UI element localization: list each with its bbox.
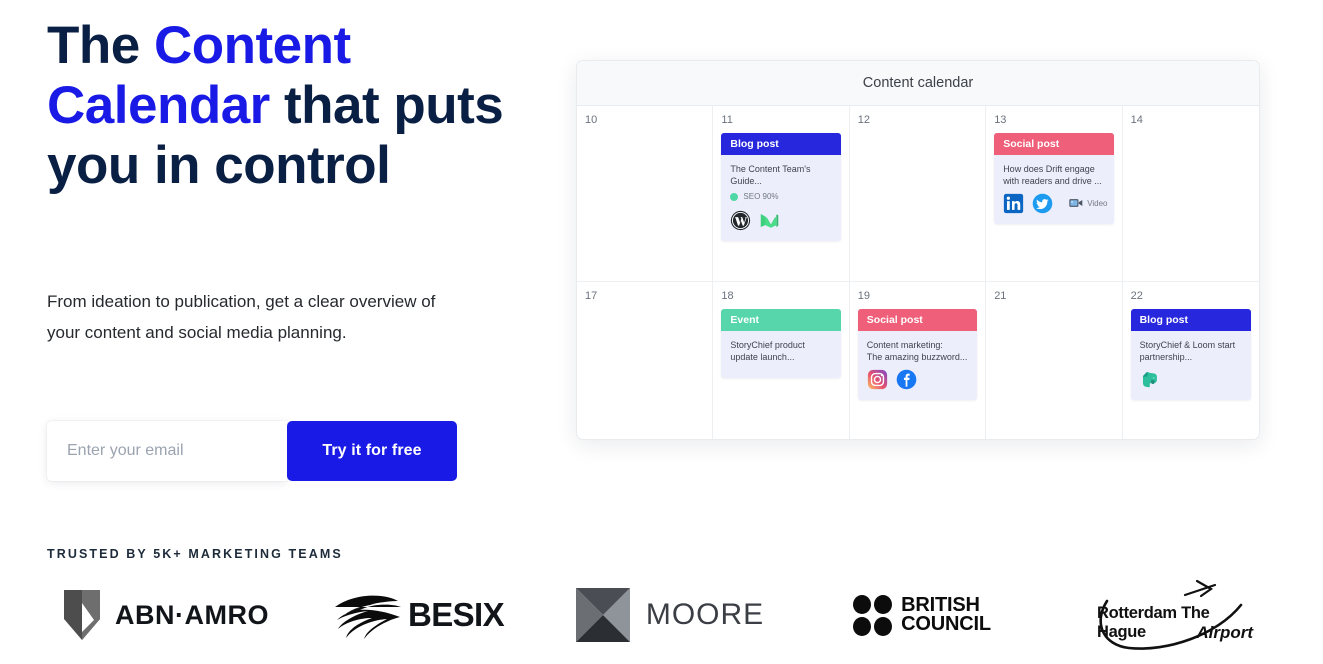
moore-wordmark: MOORE [646, 598, 764, 632]
abn-amro-wordmark: ABN·AMRO [115, 600, 269, 631]
logo-besix: BESIX [292, 575, 544, 655]
calendar-day-number: 12 [858, 114, 977, 126]
calendar-day-number: 22 [1131, 290, 1251, 302]
signup-form: Try it for free [47, 421, 457, 481]
calendar-day-number: 14 [1131, 114, 1251, 126]
event-title: The Content Team's Guide... [730, 163, 831, 187]
calendar-day-cell[interactable]: 22Blog postStoryChief & Loom start partn… [1123, 282, 1259, 440]
event-body: How does Drift engage with readers and d… [994, 155, 1113, 224]
abn-amro-shield-icon [63, 589, 101, 641]
page-title: The Content Calendar that puts you in co… [47, 16, 517, 196]
calendar-grid: 1011Blog postThe Content Team's Guide...… [577, 106, 1259, 440]
logo-british-council: BRITISH COUNCIL [796, 575, 1048, 655]
event-type-badge: Social post [994, 133, 1113, 155]
event-title: Content marketing: The amazing buzzword.… [867, 339, 968, 363]
video-tag: Video [1069, 197, 1107, 209]
seo-score-badge: SEO 90% [730, 192, 831, 201]
calendar-title: Content calendar [577, 61, 1259, 106]
seo-score-label: SEO 90% [743, 192, 778, 201]
calendar-day-cell[interactable]: 19Social postContent marketing: The amaz… [850, 282, 986, 440]
calendar-day-number: 18 [721, 290, 840, 302]
event-type-badge: Event [721, 309, 840, 331]
calendar-day-cell[interactable]: 11Blog postThe Content Team's Guide...SE… [713, 106, 849, 282]
calendar-day-cell[interactable]: 12 [850, 106, 986, 282]
event-body: StoryChief & Loom start partnership... [1131, 331, 1251, 400]
evernote-icon[interactable] [1140, 369, 1161, 390]
calendar-event-card[interactable]: Social postHow does Drift engage with re… [994, 133, 1113, 224]
british-council-line2: COUNCIL [901, 615, 991, 634]
calendar-day-number: 19 [858, 290, 977, 302]
calendar-day-cell[interactable]: 14 [1123, 106, 1259, 282]
calendar-day-cell[interactable]: 10 [577, 106, 713, 282]
email-field[interactable] [47, 421, 287, 481]
seo-status-dot-icon [730, 193, 738, 201]
calendar-day-cell[interactable]: 21 [986, 282, 1122, 440]
content-calendar-card: Content calendar 1011Blog postThe Conten… [576, 60, 1260, 440]
calendar-day-number: 10 [585, 114, 704, 126]
video-tag-label: Video [1087, 199, 1107, 208]
event-title: How does Drift engage with readers and d… [1003, 163, 1104, 187]
linkedin-icon[interactable] [1003, 193, 1024, 214]
logo-abn-amro: ABN·AMRO [40, 575, 292, 655]
event-channel-icons [867, 368, 968, 390]
twitter-icon[interactable] [1032, 193, 1053, 214]
calendar-day-number: 11 [721, 114, 840, 126]
moore-mark-icon [576, 588, 630, 642]
logo-rotterdam-the-hague-airport: Rotterdam The Hague Airport [1048, 575, 1300, 655]
calendar-event-card[interactable]: Blog postStoryChief & Loom start partner… [1131, 309, 1251, 400]
calendar-day-number: 21 [994, 290, 1113, 302]
event-body: Content marketing: The amazing buzzword.… [858, 331, 977, 400]
british-council-dots-icon [853, 595, 892, 636]
calendar-day-cell[interactable]: 17 [577, 282, 713, 440]
calendar-event-card[interactable]: Blog postThe Content Team's Guide...SEO … [721, 133, 840, 241]
calendar-event-card[interactable]: Social postContent marketing: The amazin… [858, 309, 977, 400]
event-type-badge: Social post [858, 309, 977, 331]
event-channel-icons: Video [1003, 192, 1104, 214]
calendar-day-number: 13 [994, 114, 1113, 126]
rotterdam-line2: Airport [1196, 623, 1253, 643]
calendar-day-cell[interactable]: 13Social postHow does Drift engage with … [986, 106, 1122, 282]
client-logo-row: ABN·AMRO BESIX MOORE [40, 575, 1300, 655]
event-channel-icons [1140, 368, 1242, 390]
logo-moore: MOORE [544, 575, 796, 655]
facebook-icon[interactable] [896, 369, 917, 390]
event-body: StoryChief product update launch... [721, 331, 840, 378]
event-type-badge: Blog post [1131, 309, 1251, 331]
trusted-by-label: TRUSTED BY 5K+ MARKETING TEAMS [47, 547, 343, 561]
event-body: The Content Team's Guide...SEO 90% [721, 155, 840, 241]
event-title: StoryChief & Loom start partnership... [1140, 339, 1242, 363]
calendar-day-cell[interactable]: 18EventStoryChief product update launch.… [713, 282, 849, 440]
besix-swoosh-icon [332, 589, 402, 641]
hero-subtitle: From ideation to publication, get a clea… [47, 286, 447, 348]
wordpress-icon[interactable] [730, 210, 751, 231]
besix-wordmark: BESIX [408, 596, 504, 634]
headline-part-1: The [47, 16, 154, 75]
try-it-for-free-button[interactable]: Try it for free [287, 421, 457, 481]
calendar-event-card[interactable]: EventStoryChief product update launch... [721, 309, 840, 378]
medium-icon[interactable] [759, 210, 780, 231]
event-type-badge: Blog post [721, 133, 840, 155]
calendar-day-number: 17 [585, 290, 704, 302]
hero-section: The Content Calendar that puts you in co… [47, 16, 517, 196]
event-channel-icons [730, 209, 831, 231]
video-camera-icon[interactable] [1069, 197, 1083, 209]
instagram-icon[interactable] [867, 369, 888, 390]
event-title: StoryChief product update launch... [730, 339, 831, 363]
